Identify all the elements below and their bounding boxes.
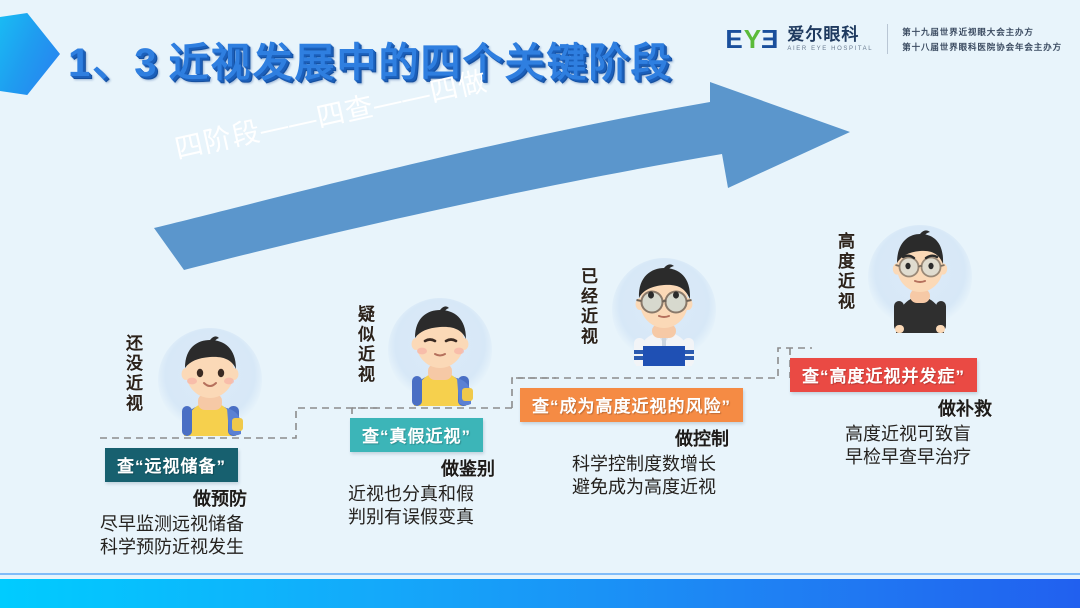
stage-2-action-line-2: 判别有误假变真 [348,506,588,529]
stage-4-action-line-2: 早检早查早治疗 [845,446,1080,469]
stage-3-status-label: 已经近视 [578,267,596,347]
stage-3-action-head: 做控制 [572,425,832,451]
student-no-myopia-icon [158,328,262,436]
stage-3-check-badge[interactable]: 查“成为高度近视的风险” [520,388,743,422]
stage-2-action-head: 做鉴别 [348,455,588,481]
stage-3-caption: 做控制 科学控制度数增长 避免成为高度近视 [572,425,832,498]
student-with-glasses-icon [612,258,716,366]
stage-2-status-label: 疑似近视 [355,305,373,385]
stage-1-caption: 做预防 尽早监测远视储备 科学预防近视发生 [100,485,340,558]
footer-gradient-bar [0,579,1080,608]
stage-1-action-line-1: 尽早监测远视储备 [100,513,340,536]
brand-slogan-line-1: 第十九届世界近视眼大会主办方 [902,26,1062,38]
brand-block: E Y E 爱尔眼科 AIER EYE HOSPITAL 第十九届世界近视眼大会… [725,24,1062,54]
stage-1-action-line-2: 科学预防近视发生 [100,536,340,559]
corner-accent-shape [0,13,60,95]
stage-2-figure [388,298,492,406]
brand-logo: E Y E 爱尔眼科 AIER EYE HOSPITAL [725,26,873,52]
brand-name: 爱尔眼科 AIER EYE HOSPITAL [787,26,873,52]
stage-1-action-head: 做预防 [100,485,340,511]
stage-4-status-label: 高度近视 [835,232,853,312]
stage-3-action-line-1: 科学控制度数增长 [572,453,832,476]
slide-canvas: 1、3近视发展中的四个关键阶段 E Y E 爱尔眼科 AIER EYE HOSP… [0,0,1080,608]
stage-4-caption: 做补救 高度近视可致盲 早检早查早治疗 [845,395,1080,468]
stage-3-figure [612,258,716,366]
footer-rule [0,573,1080,575]
brand-name-en: AIER EYE HOSPITAL [787,46,873,52]
stage-1-check-badge[interactable]: 查“远视储备” [105,448,238,482]
eye-logo-letter-e2: E [762,26,778,52]
page-title-number: 1、3 [68,41,159,85]
stage-3-action-line-2: 避免成为高度近视 [572,476,832,499]
stage-4-action-head: 做补救 [845,395,1080,421]
stage-2-caption: 做鉴别 近视也分真和假 判别有误假变真 [348,455,588,528]
stage-2-action-line-1: 近视也分真和假 [348,483,588,506]
stage-1-figure [158,328,262,436]
brand-divider [887,24,888,54]
adult-high-myopia-icon [868,225,972,333]
student-suspected-myopia-icon [388,298,492,406]
stage-2-check-badge[interactable]: 查“真假近视” [350,418,483,452]
stage-4-figure [868,225,972,333]
stage-4-check-badge[interactable]: 查“高度近视并发症” [790,358,977,392]
brand-slogan: 第十九届世界近视眼大会主办方 第十八届世界眼科医院协会年会主办方 [902,26,1062,53]
stage-4-action-line-1: 高度近视可致盲 [845,423,1080,446]
eye-logo-icon: E Y E [725,26,778,52]
eye-logo-letter-y: Y [744,26,760,52]
eye-logo-letter-e1: E [725,26,741,52]
brand-name-cn: 爱尔眼科 [787,26,873,44]
brand-slogan-line-2: 第十八届世界眼科医院协会年会主办方 [902,41,1062,53]
stage-1-status-label: 还没近视 [123,334,141,414]
